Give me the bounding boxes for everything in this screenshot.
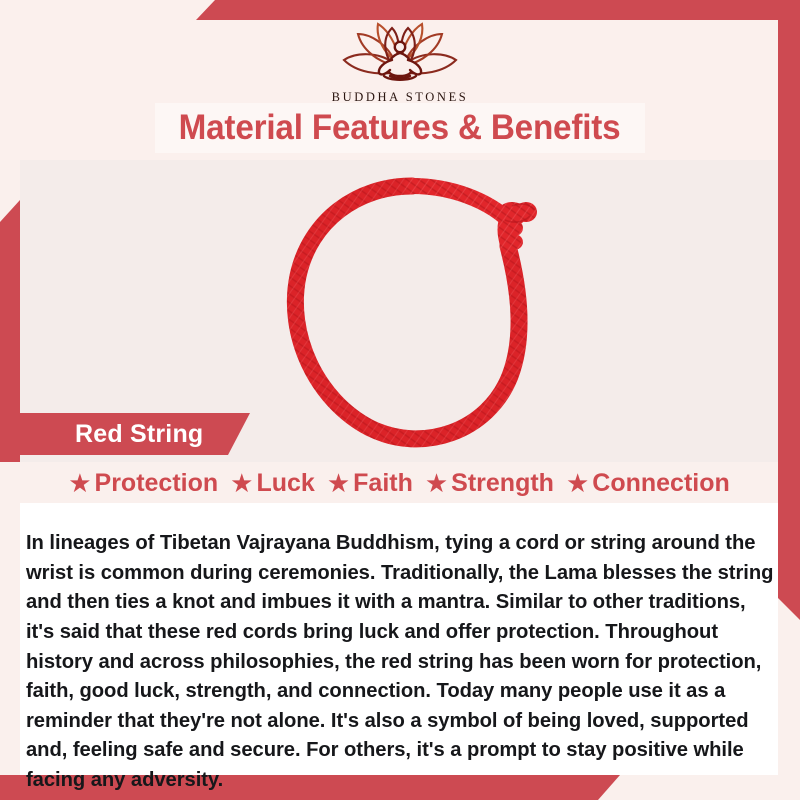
star-icon: ★ — [68, 470, 91, 496]
star-icon: ★ — [425, 470, 448, 496]
benefit-label: Protection — [95, 469, 219, 498]
infographic-poster: BUDDHA STONES Material Features & Benefi… — [0, 0, 800, 800]
star-icon: ★ — [327, 470, 350, 496]
benefit-label: Connection — [592, 469, 730, 498]
benefit-label: Strength — [451, 469, 554, 498]
benefit-item: ★ Luck — [230, 469, 315, 498]
benefit-label: Luck — [256, 469, 314, 498]
title-banner: Material Features & Benefits — [155, 103, 645, 153]
benefit-label: Faith — [353, 469, 413, 498]
star-icon: ★ — [566, 470, 589, 496]
brand-logo: BUDDHA STONES — [0, 20, 800, 105]
benefit-item: ★ Connection — [566, 469, 730, 498]
page-title: Material Features & Benefits — [179, 108, 621, 148]
star-icon: ★ — [230, 470, 253, 496]
red-string-bracelet-image — [262, 168, 572, 468]
benefit-item: ★ Protection — [68, 469, 218, 498]
description-text: In lineages of Tibetan Vajrayana Buddhis… — [26, 529, 774, 795]
left-red-accent-bar — [0, 200, 20, 462]
material-name: Red String — [75, 420, 203, 449]
benefits-row: ★ Protection ★ Luck ★ Faith ★ Strength ★… — [20, 464, 778, 502]
lotus-meditation-icon — [320, 20, 480, 88]
benefit-item: ★ Strength — [425, 469, 554, 498]
material-ribbon: Red String — [20, 413, 250, 455]
benefit-item: ★ Faith — [327, 469, 413, 498]
